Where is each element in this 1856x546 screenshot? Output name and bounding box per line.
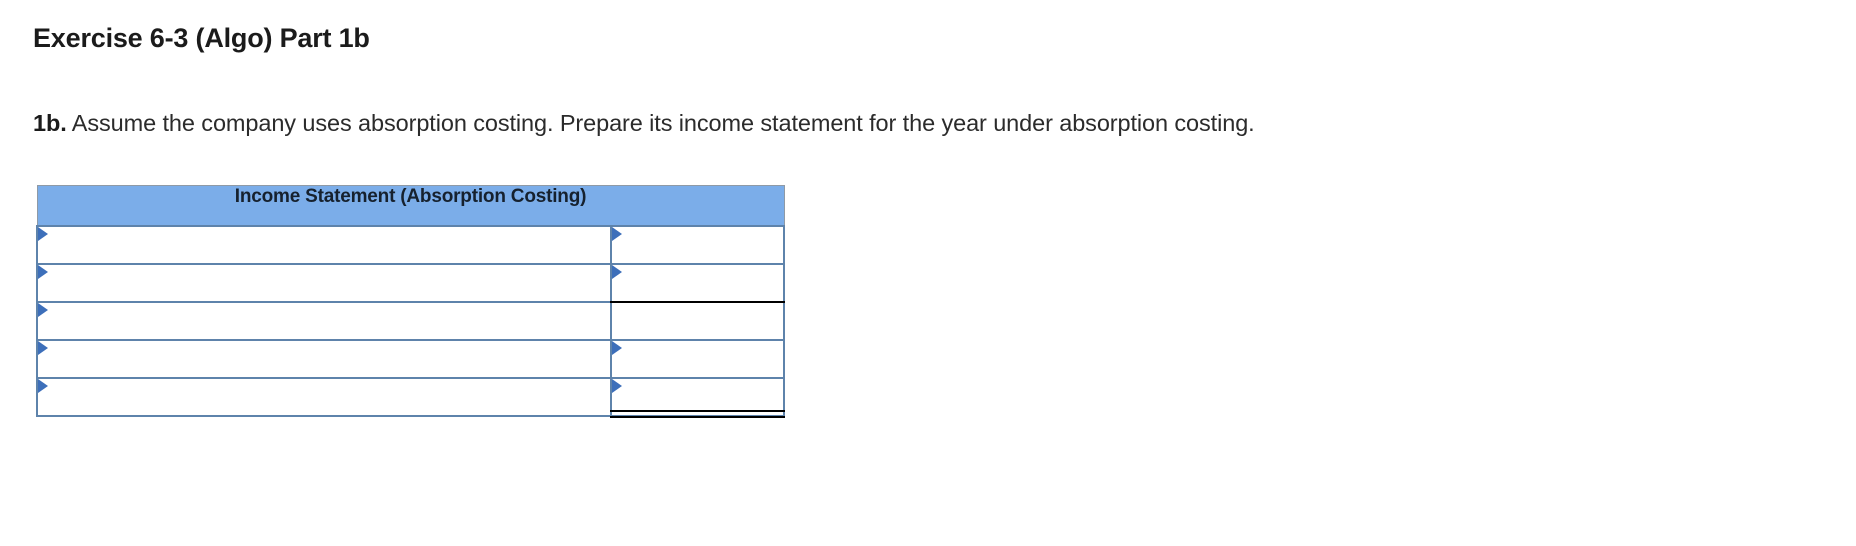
account-label-cell-2[interactable] <box>37 264 611 302</box>
amount-cell-2[interactable] <box>611 264 784 302</box>
exercise-page: Exercise 6-3 (Algo) Part 1b 1b. Assume t… <box>0 0 1856 546</box>
dropdown-triangle-icon[interactable] <box>38 303 48 317</box>
amount-input-4[interactable] <box>624 341 773 377</box>
account-label-cell-1[interactable] <box>37 226 611 264</box>
account-label-cell-3[interactable] <box>37 302 611 340</box>
account-label-cell-4[interactable] <box>37 340 611 378</box>
amount-input-5[interactable] <box>624 379 773 415</box>
dropdown-triangle-icon[interactable] <box>612 265 622 279</box>
table-row <box>37 340 784 378</box>
income-statement-worksheet: Income Statement (Absorption Costing) <box>36 185 785 417</box>
worksheet-title: Income Statement (Absorption Costing) <box>37 186 784 227</box>
dropdown-triangle-icon[interactable] <box>38 265 48 279</box>
question-text: Assume the company uses absorption costi… <box>67 110 1255 136</box>
account-label-input-2[interactable] <box>50 265 604 301</box>
amount-cell-4[interactable] <box>611 340 784 378</box>
dropdown-triangle-icon[interactable] <box>612 227 622 241</box>
dropdown-triangle-icon[interactable] <box>612 341 622 355</box>
amount-input-3[interactable] <box>624 303 773 339</box>
dropdown-triangle-icon[interactable] <box>612 379 622 393</box>
amount-cell-5[interactable] <box>611 378 784 416</box>
dropdown-triangle-icon[interactable] <box>38 341 48 355</box>
table-row <box>37 226 784 264</box>
table-row <box>37 264 784 302</box>
amount-cell-1[interactable] <box>611 226 784 264</box>
amount-input-1[interactable] <box>624 227 773 263</box>
table-row <box>37 378 784 416</box>
question-number: 1b. <box>33 110 67 136</box>
question-prompt: 1b. Assume the company uses absorption c… <box>33 110 1255 137</box>
amount-input-2[interactable] <box>624 265 773 301</box>
account-label-input-1[interactable] <box>50 227 604 263</box>
page-title: Exercise 6-3 (Algo) Part 1b <box>33 23 370 54</box>
account-label-input-5[interactable] <box>50 379 604 415</box>
amount-cell-3[interactable] <box>611 302 784 340</box>
table-row <box>37 302 784 340</box>
dropdown-triangle-icon[interactable] <box>38 379 48 393</box>
account-label-input-3[interactable] <box>50 303 604 339</box>
account-label-cell-5[interactable] <box>37 378 611 416</box>
worksheet-header-row: Income Statement (Absorption Costing) <box>37 186 784 227</box>
account-label-input-4[interactable] <box>50 341 604 377</box>
dropdown-triangle-icon[interactable] <box>38 227 48 241</box>
